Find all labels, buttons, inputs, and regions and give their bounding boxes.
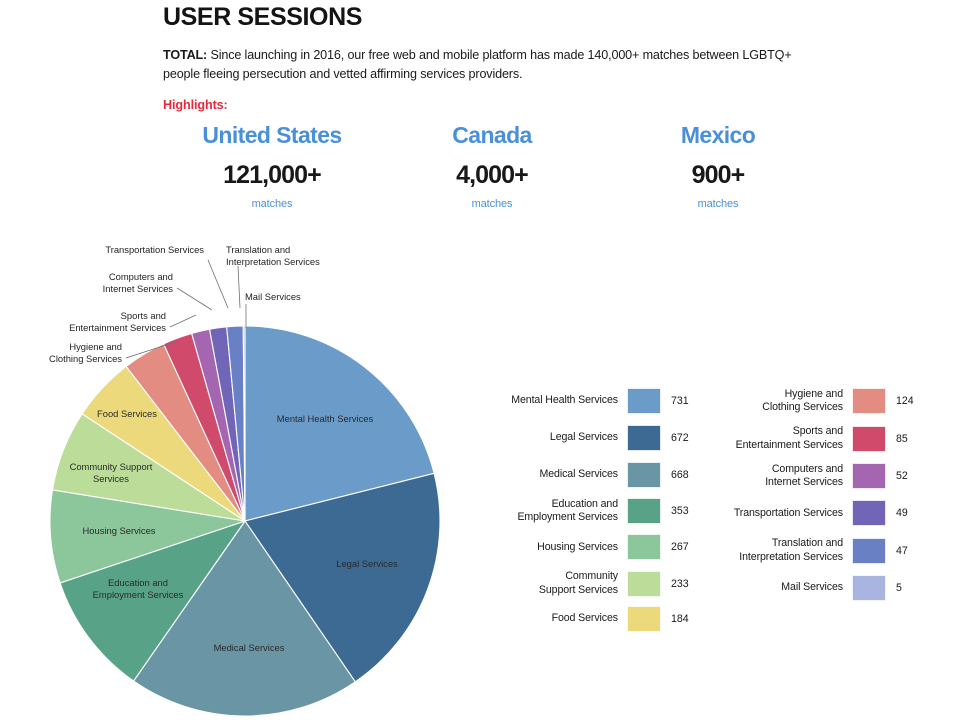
pie-label-leader-line xyxy=(208,260,228,308)
page-title: USER SESSIONS xyxy=(163,4,843,32)
legend-item-label: Hygiene andClothing Services xyxy=(690,388,852,414)
legend-item[interactable]: Translation andInterpretation Services47 xyxy=(690,537,920,563)
legend-item-label: Transportation Services xyxy=(690,507,852,520)
legend-color-swatch xyxy=(627,388,661,414)
legend-item-label: Sports andEntertainment Services xyxy=(690,425,852,451)
pie-slice-label: Food Services xyxy=(97,408,157,419)
pie-slice-label: Legal Services xyxy=(336,558,398,569)
legend-item-value: 52 xyxy=(886,470,920,482)
legend-color-swatch xyxy=(852,426,886,452)
country-name: United States xyxy=(163,122,381,150)
pie-slice-label: Mail Services xyxy=(245,291,301,302)
legend-item[interactable]: Education andEmployment Services353 xyxy=(470,498,695,524)
legend-item[interactable]: Food Services184 xyxy=(470,606,695,632)
legend-color-swatch xyxy=(852,538,886,564)
legend-item-label: Food Services xyxy=(470,612,627,625)
legend-item-value: 5 xyxy=(886,582,920,594)
pie-slice-label: Sports andEntertainment Services xyxy=(69,310,166,333)
legend-item-value: 85 xyxy=(886,433,920,445)
country-name: Canada xyxy=(381,122,603,150)
total-body: Since launching in 2016, our free web an… xyxy=(163,48,792,81)
country-value: 121,000+ xyxy=(163,162,381,190)
legend-item-value: 124 xyxy=(886,395,920,407)
pie-slices xyxy=(50,326,440,716)
country-name: Mexico xyxy=(603,122,833,150)
legend-color-swatch xyxy=(627,462,661,488)
total-summary-text: TOTAL: Since launching in 2016, our free… xyxy=(163,46,813,84)
country-stat-canada: Canada 4,000+ matches xyxy=(381,122,603,210)
legend-item-label: Legal Services xyxy=(470,431,627,444)
legend-item-label: Mental Health Services xyxy=(470,394,627,407)
highlights-label: Highlights: xyxy=(163,98,843,112)
legend-item[interactable]: Computers andInternet Services52 xyxy=(690,463,920,489)
pie-slice-label: Transportation Services xyxy=(105,244,204,255)
legend-item-label: Computers andInternet Services xyxy=(690,463,852,489)
legend-item[interactable]: Mail Services5 xyxy=(690,575,920,601)
legend-color-swatch xyxy=(627,571,661,597)
legend-color-swatch xyxy=(627,498,661,524)
legend-item-label: Education andEmployment Services xyxy=(470,498,627,524)
legend-color-swatch xyxy=(852,388,886,414)
legend-item-label: Mail Services xyxy=(690,581,852,594)
country-unit: matches xyxy=(603,198,833,210)
legend-color-swatch xyxy=(852,575,886,601)
legend-item[interactable]: Sports andEntertainment Services85 xyxy=(690,425,920,451)
legend-item-value: 47 xyxy=(886,545,920,557)
pie-chart: Mental Health ServicesLegal ServicesMedi… xyxy=(0,230,470,720)
legend-item-value: 49 xyxy=(886,507,920,519)
legend-item[interactable]: Mental Health Services731 xyxy=(470,388,695,414)
legend-item[interactable]: Hygiene andClothing Services124 xyxy=(690,388,920,414)
country-stat-mexico: Mexico 900+ matches xyxy=(603,122,833,210)
country-stat-united-states: United States 121,000+ matches xyxy=(163,122,381,210)
pie-label-leader-line xyxy=(238,266,240,308)
pie-slice-label: Medical Services xyxy=(214,642,285,653)
pie-slice-label: Hygiene andClothing Services xyxy=(49,341,122,364)
legend-item-label: Medical Services xyxy=(470,468,627,481)
pie-chart-svg: Mental Health ServicesLegal ServicesMedi… xyxy=(0,230,470,720)
legend-item-value: 184 xyxy=(661,613,695,625)
legend-item[interactable]: Medical Services668 xyxy=(470,462,695,488)
legend-color-swatch xyxy=(627,534,661,560)
infographic-page: USER SESSIONS TOTAL: Since launching in … xyxy=(0,0,960,720)
legend-column-secondary: Hygiene andClothing Services124Sports an… xyxy=(690,388,920,601)
country-stats: United States 121,000+ matches Canada 4,… xyxy=(163,122,843,210)
country-unit: matches xyxy=(163,198,381,210)
pie-slice-label: Computers andInternet Services xyxy=(103,271,174,294)
country-value: 4,000+ xyxy=(381,162,603,190)
legend-item-label: CommunitySupport Services xyxy=(470,570,627,596)
pie-slice-label: Housing Services xyxy=(83,525,156,536)
pie-label-leader-line xyxy=(177,288,212,310)
total-label: TOTAL: xyxy=(163,48,207,62)
legend-column-primary: Mental Health Services731Legal Services6… xyxy=(470,388,695,632)
legend-item-label: Housing Services xyxy=(470,541,627,554)
country-unit: matches xyxy=(381,198,603,210)
legend-item-label: Translation andInterpretation Services xyxy=(690,537,852,563)
legend-item[interactable]: Housing Services267 xyxy=(470,534,695,560)
legend-item[interactable]: CommunitySupport Services233 xyxy=(470,570,695,596)
legend-item[interactable]: Legal Services672 xyxy=(470,425,695,451)
legend-color-swatch xyxy=(627,425,661,451)
legend-color-swatch xyxy=(627,606,661,632)
legend-color-swatch xyxy=(852,500,886,526)
legend-color-swatch xyxy=(852,463,886,489)
header: USER SESSIONS TOTAL: Since launching in … xyxy=(163,4,843,112)
legend-item[interactable]: Transportation Services49 xyxy=(690,500,920,526)
country-value: 900+ xyxy=(603,162,833,190)
pie-label-leader-line xyxy=(170,315,196,327)
pie-slice-label: Translation andInterpretation Services xyxy=(226,244,320,267)
pie-slice-label: Mental Health Services xyxy=(277,413,374,424)
